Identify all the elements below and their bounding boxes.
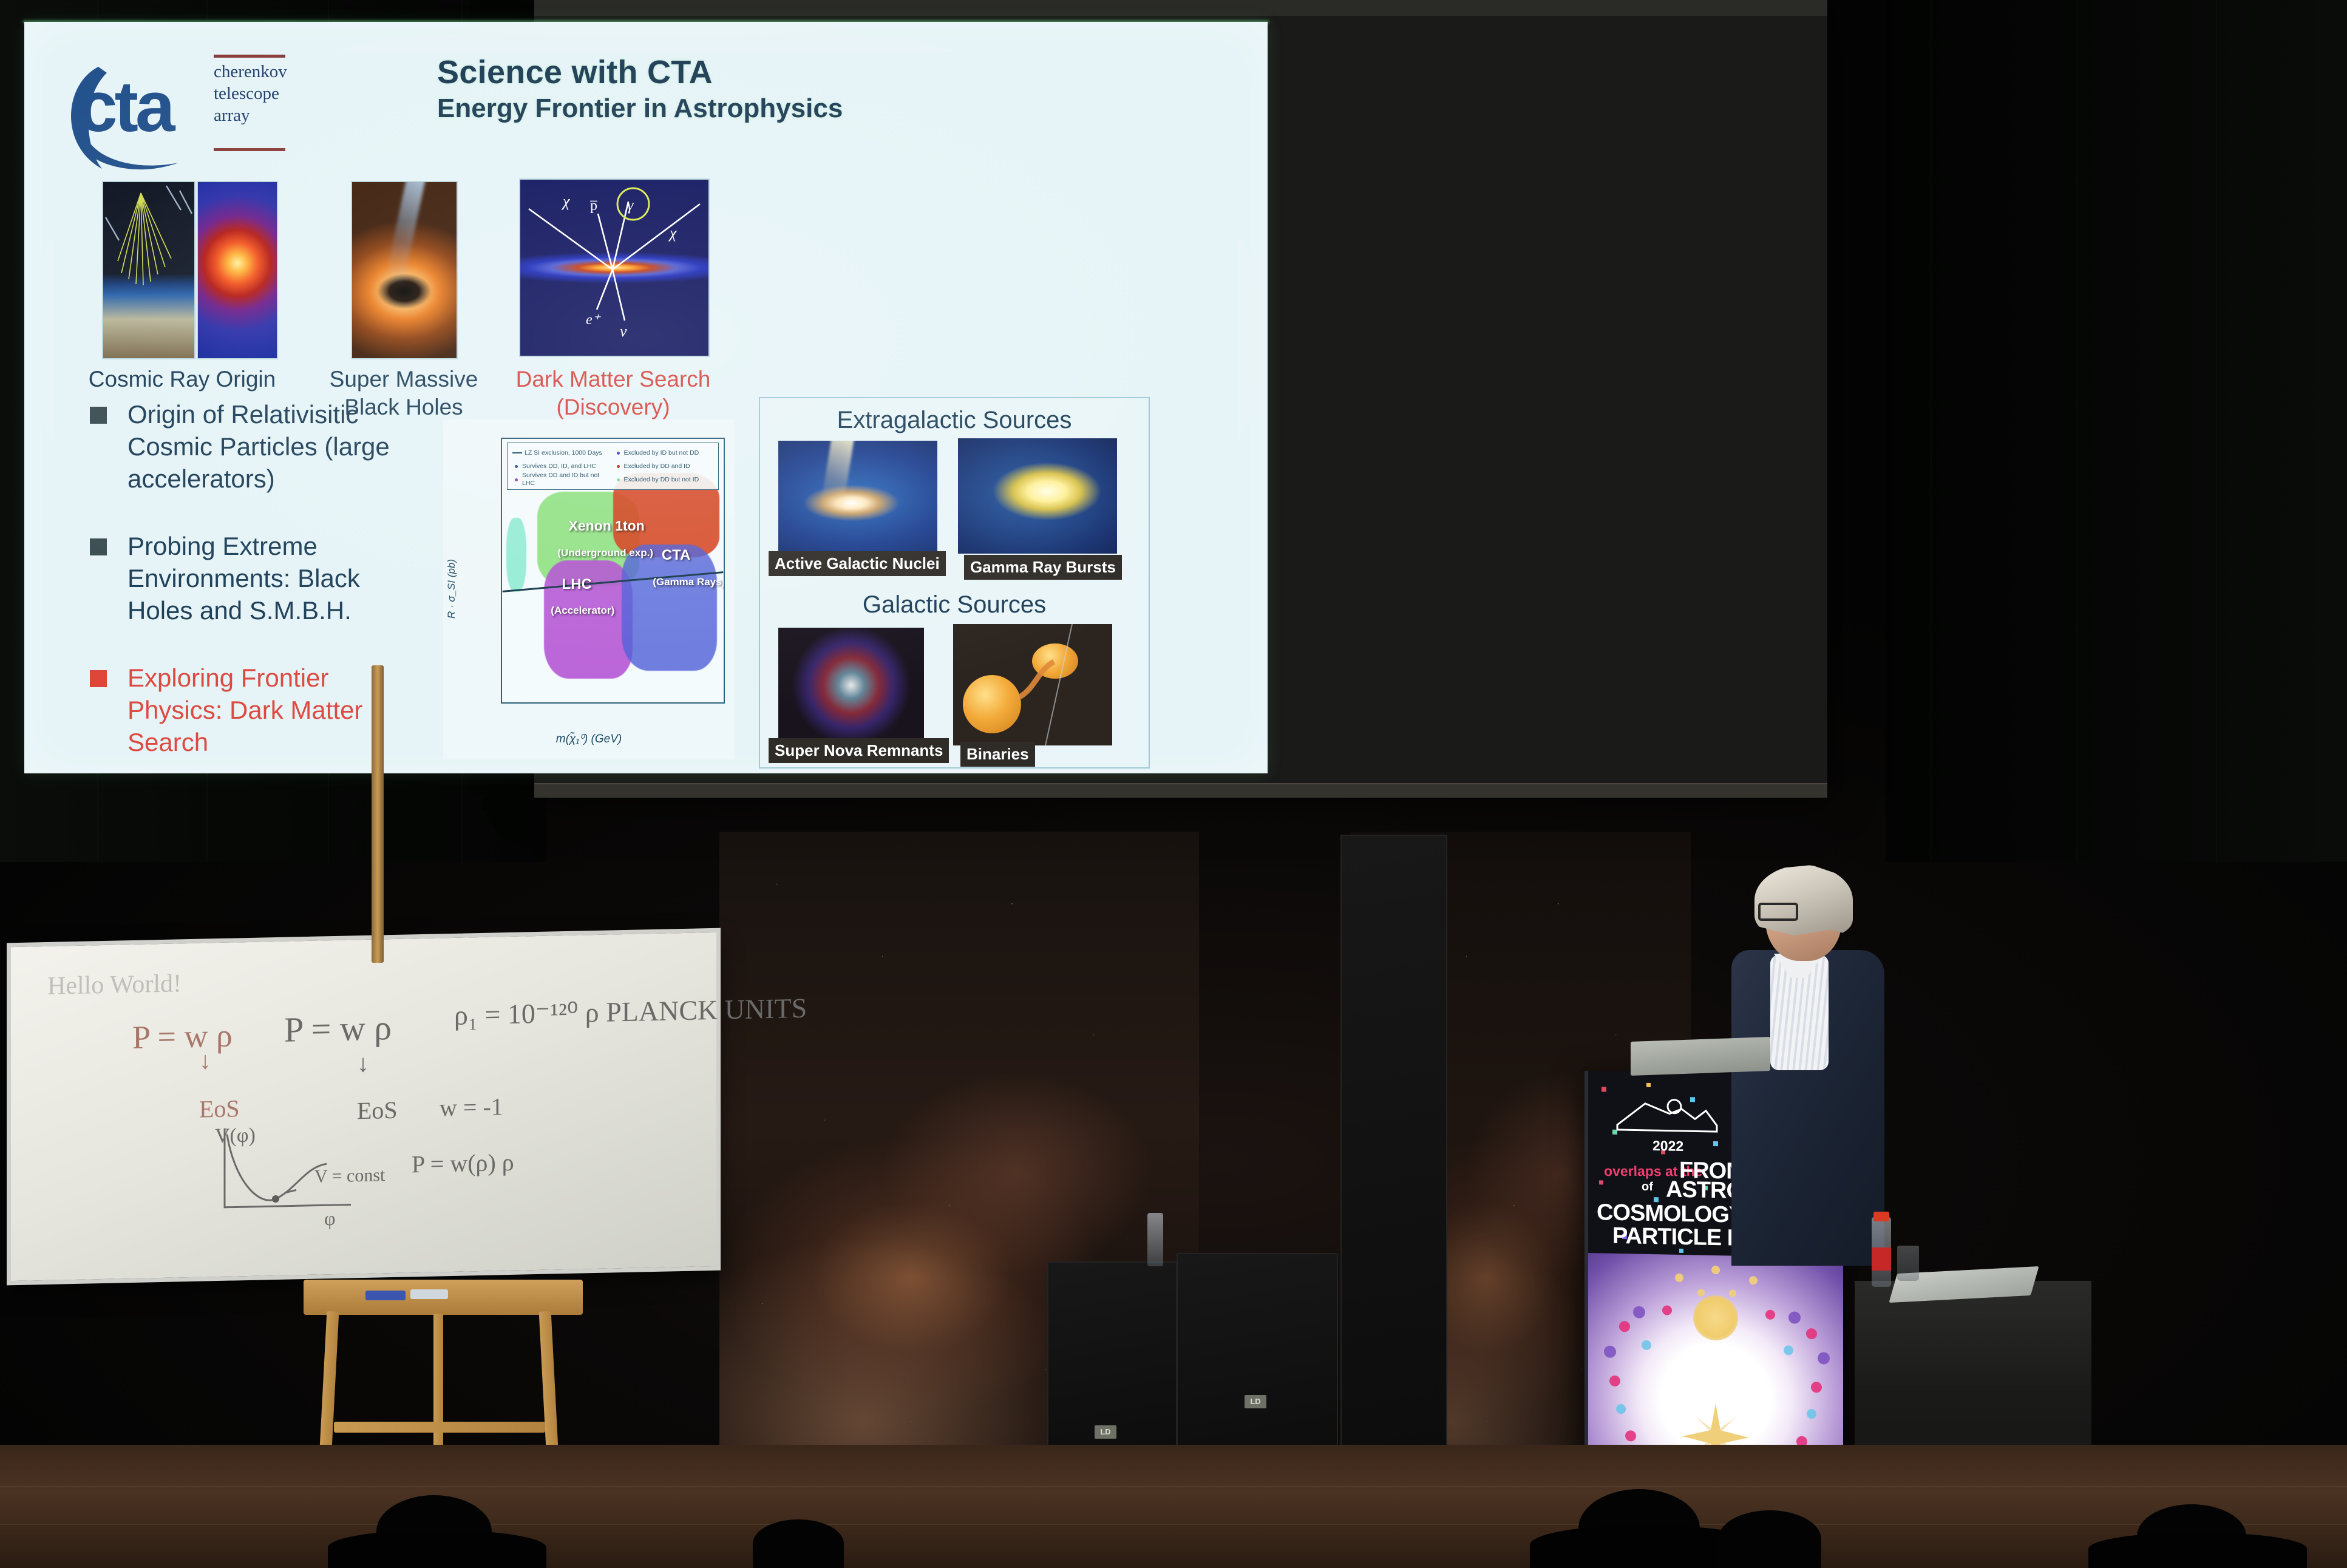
svg-text:p̅: p̅ (589, 198, 598, 214)
audience-shoulders-5 (2088, 1533, 2307, 1568)
caption-dark-matter-search: Dark Matter Search (Discovery) (492, 365, 735, 421)
cta-subtitle: cherenkov telescope array (214, 61, 299, 126)
marker-blue[interactable] (365, 1291, 406, 1300)
podium-year: 2022 (1652, 1138, 1683, 1155)
heading-extragalactic-sources: Extragalactic Sources (760, 407, 1149, 434)
legend-item-1: Excluded by ID but not DD (613, 446, 715, 460)
image-gamma-ray-bursts (958, 438, 1117, 554)
bullet-text-1: Origin of Relativisitic Cosmic Particles… (127, 398, 425, 495)
legend-label-5: Excluded by DD but not ID (624, 476, 699, 484)
svg-text:χ: χ (668, 224, 677, 242)
ld-brand-badge: LD (1095, 1425, 1116, 1439)
legend-line-icon (512, 452, 522, 453)
air-shower-rays-icon (103, 182, 194, 358)
image-super-nova-remnants (778, 628, 924, 743)
legend-item-5: Excluded by DD but not ID (613, 473, 715, 486)
conference-logo-icon (1614, 1092, 1723, 1138)
slide-subtitle: Energy Frontier in Astrophysics (437, 93, 843, 124)
slide-title: Science with CTA (437, 53, 713, 91)
legend-dot-icon (617, 452, 620, 455)
audience-shoulders-1 (328, 1530, 546, 1568)
binary-accretion-stream-icon (953, 624, 1112, 745)
image-dark-matter-sky-map: χ χ p̅ γ e⁺ ν (519, 178, 710, 357)
caption-cosmic-ray-origin: Cosmic Ray Origin (85, 365, 279, 393)
easel-mast (372, 665, 384, 963)
easel-crossbar-upper (334, 1422, 545, 1433)
caption-super-nova-remnants: Super Nova Remnants (769, 738, 949, 763)
caption-gamma-ray-bursts: Gamma Ray Bursts (964, 555, 1122, 580)
image-air-shower (102, 181, 195, 359)
eraser[interactable] (410, 1289, 448, 1299)
legend-dot-icon (617, 465, 620, 468)
legend-item-2: Survives DD, ID, and LHC (511, 460, 613, 473)
plot-area: 10⁻⁵ 10⁻⁷ 10⁻⁹ 10⁻¹¹ 10⁻¹³ 10⁻¹⁵ 10⁻¹⁷ 1… (501, 438, 725, 704)
agn-jet (820, 441, 854, 514)
plot-label-xenon1ton: Xenon 1ton (569, 518, 645, 534)
plot-label-xenon1ton-sub: (Underground exp.) (557, 547, 653, 559)
image-black-hole (351, 181, 458, 359)
podium-line-of: of (1642, 1180, 1653, 1194)
bullet-square-icon (90, 407, 107, 424)
podium-laptop[interactable] (1631, 1037, 1770, 1076)
plot-label-cta: CTA (662, 547, 691, 564)
cta-rule-bottom (214, 148, 285, 151)
stage-speaker-right: LD (1177, 1253, 1338, 1468)
heading-galactic-sources: Galactic Sources (760, 591, 1149, 619)
stage-speaker-far-right (1340, 835, 1447, 1465)
plot-x-axis-label: m(χ̃₁⁰) (GeV) (556, 732, 622, 746)
audience-head-4 (1718, 1510, 1821, 1568)
dark-matter-scatter-plot: R · σ_SI (pb) m(χ̃₁⁰) (GeV) 10⁻⁵ 10⁻⁷ 10… (443, 419, 735, 759)
cta-sub-line-3: array (214, 104, 299, 126)
cta-wordmark: cta (62, 67, 202, 147)
bullet-item-1: Origin of Relativisitic Cosmic Particles… (85, 398, 425, 495)
plot-label-lhc-sub: (Accelerator) (551, 605, 614, 617)
cta-logo: cta cherenkov telescope array (62, 46, 299, 168)
image-active-galactic-nuclei (778, 441, 937, 556)
presenter-glasses-icon (1758, 903, 1798, 921)
screen-bottom-rail (534, 783, 1827, 798)
lecture-hall-scene: cta cherenkov telescope array Science wi… (0, 0, 2347, 1568)
plot-legend: LZ SI exclusion, 1000 Days Excluded by I… (507, 443, 719, 490)
water-bottle-cap (1873, 1212, 1889, 1221)
legend-dot-icon (617, 478, 620, 481)
legend-item-0: LZ SI exclusion, 1000 Days (511, 446, 613, 460)
svg-text:γ: γ (627, 196, 634, 214)
ld-brand-badge: LD (1245, 1395, 1266, 1408)
wb-potential-curve-icon (11, 932, 716, 1281)
cta-rule-top (214, 55, 285, 58)
cta-sub-line-1: cherenkov (214, 61, 299, 83)
cta-logo-mark: cta (62, 57, 202, 166)
bullet-item-2: Probing Extreme Environments: Black Hole… (85, 530, 425, 626)
bullet-text-2: Probing Extreme Environments: Black Hole… (127, 530, 425, 626)
bullet-square-icon (90, 538, 107, 555)
whiteboard: Hello World! P = w ρ P = w ρ ρ₁ = 10⁻¹²⁰… (11, 932, 716, 1281)
legend-label-3: Excluded by DD and ID (624, 463, 690, 470)
presenter-hair (1754, 865, 1853, 935)
audience-head-2 (753, 1519, 844, 1568)
stage-speaker-left: LD (1047, 1261, 1177, 1464)
caption-smbh-line1: Super Massive (328, 365, 480, 393)
svg-text:e⁺: e⁺ (586, 312, 602, 328)
caption-active-galactic-nuclei: Active Galactic Nuclei (769, 551, 946, 576)
legend-dot-icon (515, 465, 518, 468)
legend-label-4: Survives DD and ID but not LHC (522, 472, 613, 487)
black-hole-jet (385, 181, 426, 285)
cloud-excluded-id-not-dd (506, 518, 526, 592)
legend-item-4: Survives DD and ID but not LHC (511, 473, 613, 486)
plot-label-lhc: LHC (562, 576, 592, 593)
legend-label-2: Survives DD, ID, and LHC (522, 463, 596, 470)
legend-dot-icon (515, 478, 518, 481)
stage-water-bottle (1147, 1213, 1163, 1266)
caption-binaries: Binaries (960, 742, 1035, 767)
image-supernova-remnant-map (197, 181, 278, 359)
plot-y-axis-label: R · σ_SI (pb) (446, 559, 458, 619)
side-table-cup[interactable] (1897, 1246, 1919, 1281)
presentation-slide: cta cherenkov telescope array Science wi… (24, 22, 1268, 773)
legend-item-3: Excluded by DD and ID (613, 460, 715, 473)
image-binaries (953, 624, 1112, 745)
stage-curtain-right (1886, 0, 2347, 862)
whiteboard-writing: Hello World! P = w ρ P = w ρ ρ₁ = 10⁻¹²⁰… (11, 932, 716, 1281)
svg-text:ν: ν (620, 322, 627, 340)
bullet-square-icon (90, 670, 107, 687)
svg-text:χ: χ (561, 192, 570, 210)
legend-label-1: Excluded by ID but not DD (624, 449, 699, 457)
screen-top-rail (534, 0, 1827, 16)
cta-sub-line-2: telescope (214, 83, 299, 104)
sources-panel: Extragalactic Sources Active Galactic Nu… (759, 397, 1150, 769)
water-bottle-label (1872, 1247, 1891, 1271)
legend-label-0: LZ SI exclusion, 1000 Days (525, 449, 602, 457)
plot-label-cta-sub: (Gamma Rays) (653, 576, 725, 588)
dark-matter-annotation-icon: χ χ p̅ γ e⁺ ν (520, 180, 708, 356)
